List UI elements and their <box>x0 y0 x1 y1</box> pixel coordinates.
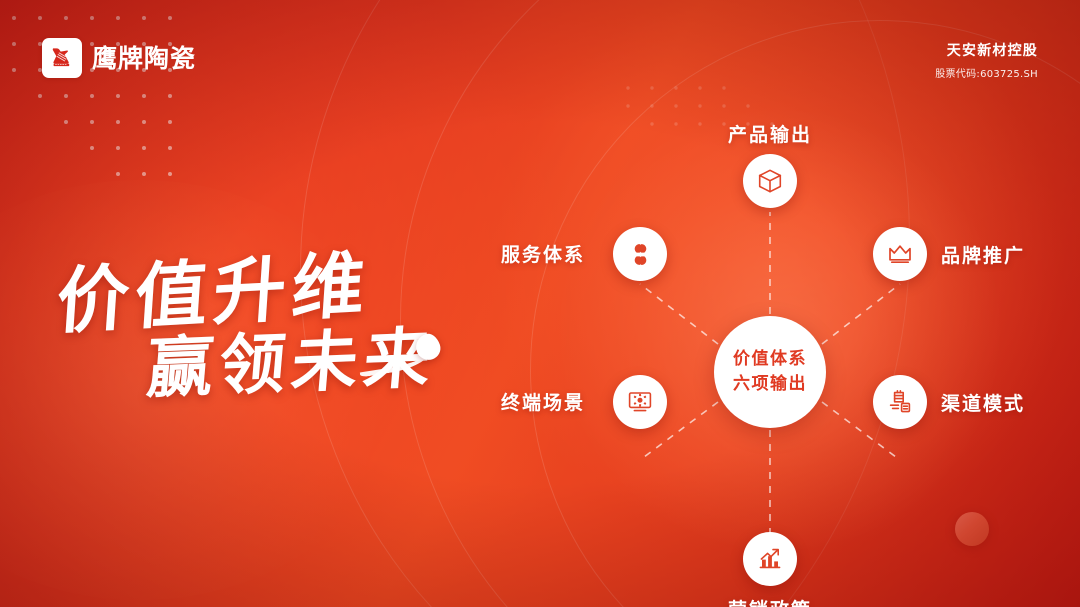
brand-logo[interactable]: 鹰牌陶瓷 <box>42 38 196 78</box>
brand-logo-text: 鹰牌陶瓷 <box>92 46 196 71</box>
node-label-marketing-policy: 营销政策 <box>728 595 812 607</box>
node-label-service-system: 服务体系 <box>501 240 585 267</box>
eagle-icon <box>42 38 82 78</box>
diagram-hub: 价值体系 六项输出 <box>714 316 826 428</box>
node-label-terminal-scene: 终端场景 <box>501 388 585 415</box>
hub-line-1: 价值体系 <box>733 347 807 372</box>
clover-icon <box>613 227 667 281</box>
monitor-gear-icon <box>613 375 667 429</box>
corporate-info: 天安新材控股 股票代码:603725.SH <box>935 40 1038 80</box>
growth-chart-icon <box>743 532 797 586</box>
node-label-brand-promotion: 品牌推广 <box>941 241 1025 268</box>
node-label-channel-model: 渠道模式 <box>941 389 1025 416</box>
hub-line-2: 六项输出 <box>733 372 807 397</box>
corporate-name: 天安新材控股 <box>935 40 1038 60</box>
diagram-node-terminal-scene[interactable]: 终端场景 <box>613 375 667 429</box>
diagram-node-service-system[interactable]: 服务体系 <box>613 227 667 281</box>
dot-grid-pattern-left <box>0 8 180 198</box>
diagram-node-channel-model[interactable]: 渠道模式 <box>873 375 1025 429</box>
stock-code: 股票代码:603725.SH <box>935 65 1038 80</box>
delivery-truck-icon <box>873 375 927 429</box>
value-system-diagram: 价值体系 六项输出 产品输出 品牌推广 <box>470 92 1070 562</box>
crown-icon <box>873 227 927 281</box>
diagram-node-marketing-policy[interactable]: 营销政策 <box>743 532 797 586</box>
diagram-node-brand-promotion[interactable]: 品牌推广 <box>873 227 1025 281</box>
headline-block: 价值升维 赢领未来 <box>52 228 482 398</box>
node-label-product-output: 产品输出 <box>728 120 812 147</box>
slide-canvas: 鹰牌陶瓷 天安新材控股 股票代码:603725.SH 价值升维 赢领未来 价值体… <box>0 0 1080 607</box>
cube-box-icon <box>743 154 797 208</box>
diagram-node-product-output[interactable]: 产品输出 <box>743 154 797 208</box>
